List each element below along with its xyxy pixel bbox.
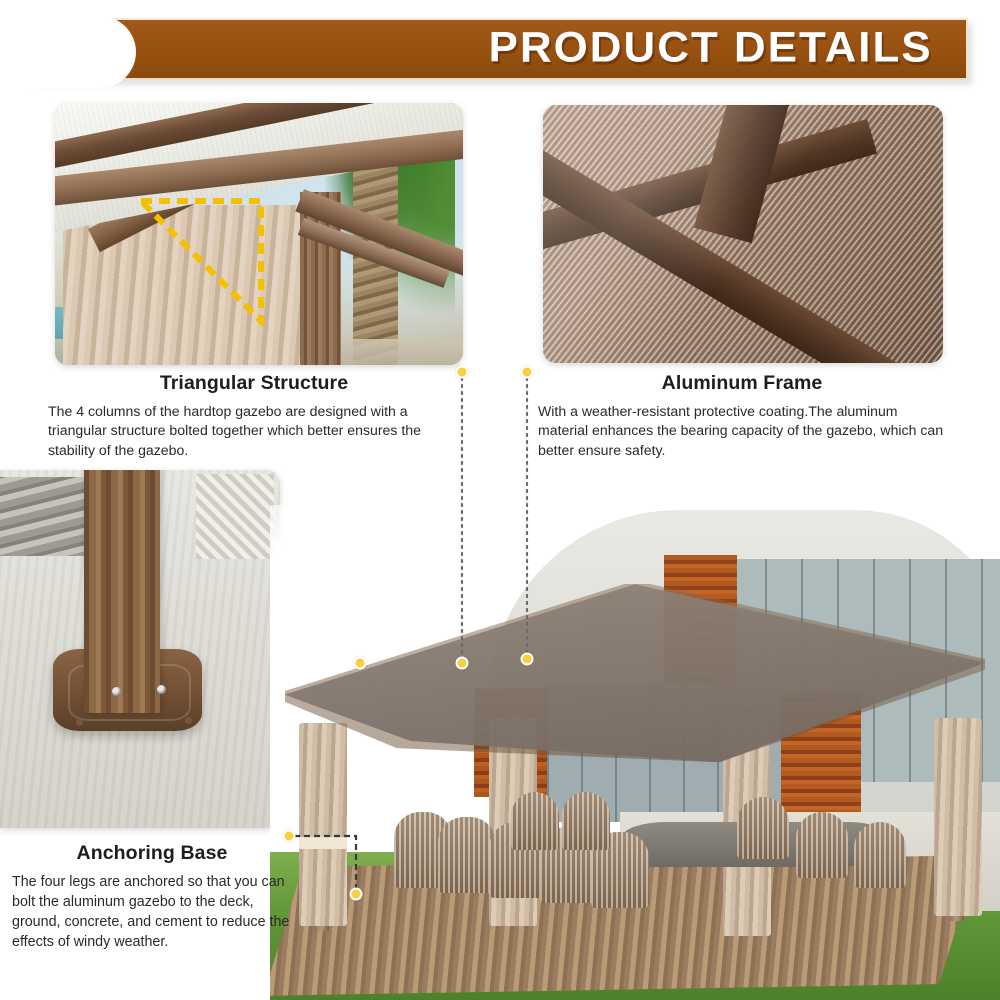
caption-title: Anchoring Base bbox=[12, 842, 292, 865]
triangle-highlight-overlay bbox=[55, 103, 463, 365]
curtain-tieback bbox=[299, 837, 347, 849]
dining-chair bbox=[562, 792, 610, 850]
banner-left-notch bbox=[28, 16, 136, 88]
caption-title: Triangular Structure bbox=[48, 372, 460, 395]
frame-specular-highlight bbox=[543, 105, 943, 363]
dining-chair bbox=[796, 812, 848, 878]
dining-chair bbox=[438, 817, 496, 893]
hero-gazebo-scene bbox=[270, 505, 1000, 1000]
background-bench bbox=[0, 477, 95, 556]
dining-chair bbox=[854, 822, 906, 888]
dining-chair bbox=[511, 792, 559, 850]
header-banner: PRODUCT DETAILS bbox=[30, 18, 972, 82]
photo-triangular-structure bbox=[55, 103, 463, 365]
page-title-text: PRODUCT DETAILS bbox=[488, 24, 932, 73]
caption-triangular-structure: Triangular Structure The 4 columns of th… bbox=[48, 372, 460, 460]
connector-dot-triangular-bottom bbox=[456, 657, 469, 670]
roof-frame-edge bbox=[285, 584, 986, 762]
caption-body: With a weather-resistant protective coat… bbox=[538, 402, 946, 460]
connector-dot-aluminum-top bbox=[521, 366, 534, 379]
connector-dot-anchoring-end bbox=[350, 888, 363, 901]
photo-anchoring-base bbox=[0, 470, 280, 828]
caption-anchoring-base: Anchoring Base The four legs are anchore… bbox=[12, 842, 292, 952]
caption-title: Aluminum Frame bbox=[538, 372, 946, 395]
photo-aluminum-frame bbox=[543, 105, 943, 363]
fluted-post bbox=[84, 470, 160, 713]
anchor-bolt bbox=[112, 687, 121, 696]
hero-soft-mask bbox=[270, 505, 1000, 1000]
gazebo-roof bbox=[285, 584, 986, 762]
caption-aluminum-frame: Aluminum Frame With a weather-resistant … bbox=[538, 372, 946, 460]
connector-dot-anchoring-start bbox=[283, 830, 296, 843]
connector-dot-aluminum-bottom bbox=[521, 653, 534, 666]
dining-chair bbox=[737, 797, 789, 859]
page-title: PRODUCT DETAILS bbox=[493, 24, 928, 73]
caption-body: The 4 columns of the hardtop gazebo are … bbox=[48, 402, 460, 460]
infographic-page: PRODUCT DETAILS bbox=[0, 0, 1000, 1000]
caption-body: The four legs are anchored so that you c… bbox=[12, 872, 292, 952]
anchor-bolt bbox=[157, 685, 166, 694]
connector-dot-roof-left bbox=[354, 657, 367, 670]
anchor-hole bbox=[76, 719, 83, 726]
anchor-hole bbox=[185, 717, 192, 724]
background-screen-panel bbox=[196, 474, 274, 560]
banner-bar: PRODUCT DETAILS bbox=[30, 18, 968, 80]
